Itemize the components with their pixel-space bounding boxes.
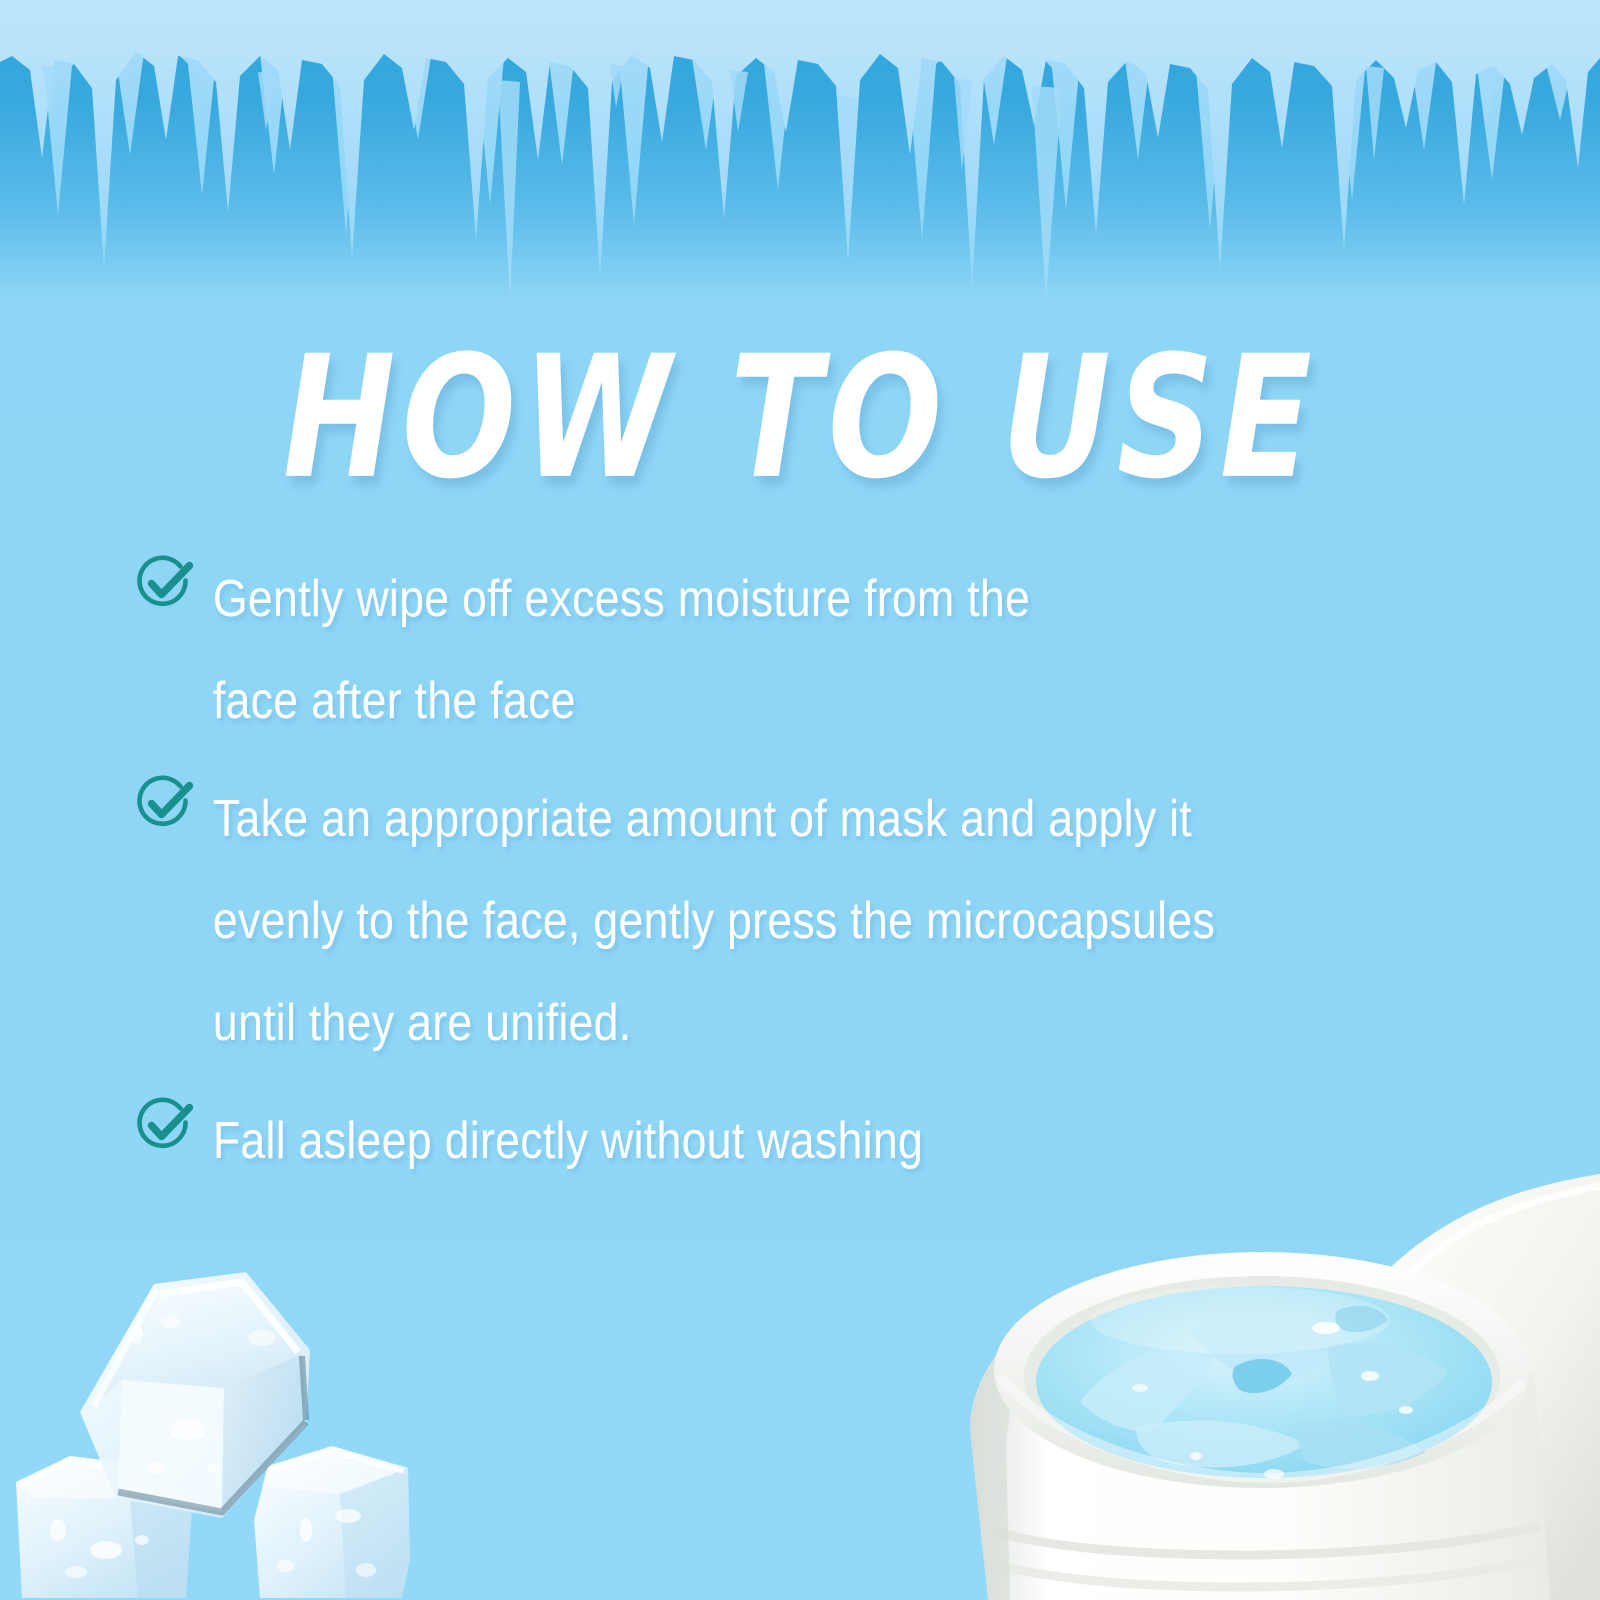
cream-jar-photo (940, 1170, 1600, 1600)
how-to-use-poster: HOW TO USE Gently wipe off excess moistu… (0, 0, 1600, 1600)
instruction-list: Gently wipe off excess moisture from the… (132, 548, 1532, 1208)
list-item-line: evenly to the face, gently press the mic… (213, 870, 1600, 972)
icicle-band (0, 0, 1600, 300)
list-item-line: Gently wipe off excess moisture from the (213, 548, 1600, 650)
page-title: HOW TO USE (282, 330, 1317, 507)
list-item-line: face after the face (213, 650, 1600, 752)
icicle-layer-front (0, 0, 1600, 290)
list-item: Take an appropriate amount of mask and a… (132, 768, 1532, 1074)
list-item-line: Take an appropriate amount of mask and a… (213, 768, 1600, 870)
page-title-wrap: HOW TO USE (0, 330, 1600, 469)
list-item-line: until they are unified. (213, 972, 1600, 1074)
list-item: Gently wipe off excess moisture from the… (132, 548, 1532, 752)
list-item-text: Gently wipe off excess moisture from the… (132, 548, 1600, 752)
icicle-shapes (0, 0, 1600, 300)
ice-cubes-photo (10, 1230, 480, 1600)
list-item-text: Take an appropriate amount of mask and a… (132, 768, 1600, 1074)
ice-cube-right (254, 1446, 410, 1598)
